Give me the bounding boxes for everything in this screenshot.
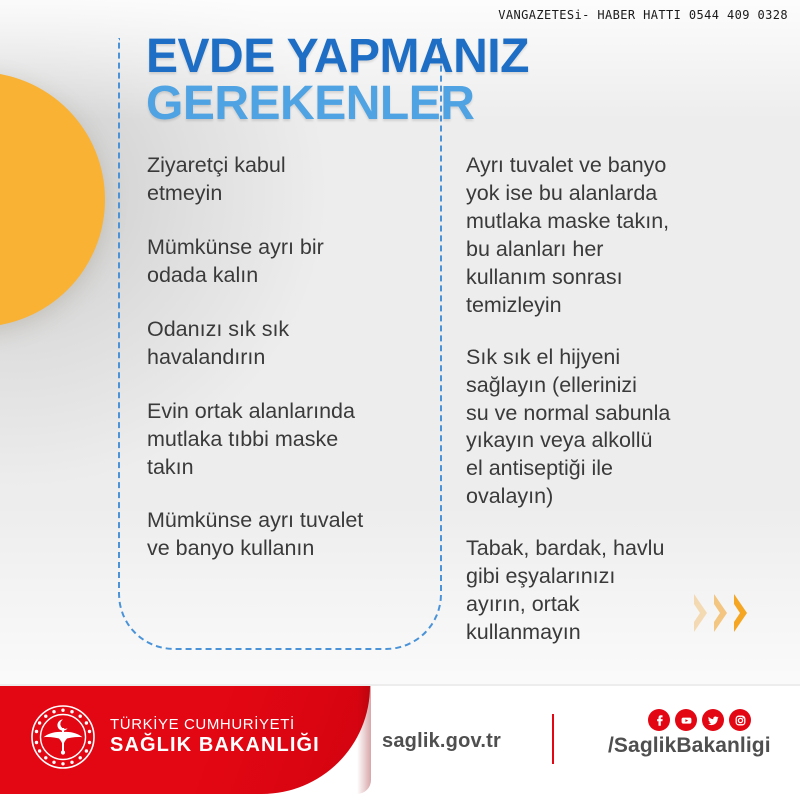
ministry-branding: TÜRKİYE CUMHURİYETİ SAĞLIK BAKANLIĞI bbox=[30, 704, 320, 770]
tips-left-column: Ziyaretçi kabul etmeyin Mümkünse ayrı bi… bbox=[147, 152, 425, 563]
youtube-icon[interactable] bbox=[675, 709, 697, 731]
tips-right-column: Ayrı tuvalet ve banyo yok ise bu alanlar… bbox=[466, 152, 734, 647]
ministry-text: TÜRKİYE CUMHURİYETİ SAĞLIK BAKANLIĞI bbox=[110, 717, 320, 756]
chevron-right-icon bbox=[712, 592, 729, 634]
footer-bar: TÜRKİYE CUMHURİYETİ SAĞLIK BAKANLIĞI sag… bbox=[0, 686, 800, 794]
tip-item: Ziyaretçi kabul etmeyin bbox=[147, 152, 425, 208]
ministry-of-health-emblem-icon bbox=[30, 704, 96, 770]
ministry-line-1: TÜRKİYE CUMHURİYETİ bbox=[110, 717, 320, 734]
tip-item: Mümkünse ayrı tuvalet ve banyo kullanın bbox=[147, 507, 425, 563]
social-handle[interactable]: /SaglikBakanligi bbox=[608, 734, 771, 758]
tip-item: Ayrı tuvalet ve banyo yok ise bu alanlar… bbox=[466, 152, 734, 320]
chevron-right-icon bbox=[692, 592, 709, 634]
page-title: EVDE YAPMANIZ GEREKENLER bbox=[146, 34, 529, 127]
news-hotline-ticker: VANGAZETESi- HABER HATTI 0544 409 0328 bbox=[498, 8, 788, 22]
chevron-right-icon bbox=[732, 592, 749, 634]
tip-item: Evin ortak alanlarında mutlaka tıbbi mas… bbox=[147, 398, 425, 482]
tip-item: Sık sık el hijyeni sağlayın (ellerinizi … bbox=[466, 344, 734, 512]
tip-item: Odanızı sık sık havalandırın bbox=[147, 316, 425, 372]
twitter-icon[interactable] bbox=[702, 709, 724, 731]
footer-divider bbox=[552, 714, 554, 764]
title-line-secondary: GEREKENLER bbox=[146, 81, 529, 128]
social-block: /SaglikBakanligi bbox=[608, 709, 771, 758]
title-line-primary: EVDE YAPMANIZ bbox=[146, 34, 529, 81]
social-icon-list bbox=[648, 709, 771, 731]
tip-item: Mümkünse ayrı bir odada kalın bbox=[147, 234, 425, 290]
instagram-icon[interactable] bbox=[729, 709, 751, 731]
chevron-arrows bbox=[692, 592, 749, 634]
ministry-line-2: SAĞLIK BAKANLIĞI bbox=[110, 734, 320, 756]
poster-root: VANGAZETESi- HABER HATTI 0544 409 0328 E… bbox=[0, 0, 800, 794]
website-url[interactable]: saglik.gov.tr bbox=[382, 730, 501, 753]
facebook-icon[interactable] bbox=[648, 709, 670, 731]
